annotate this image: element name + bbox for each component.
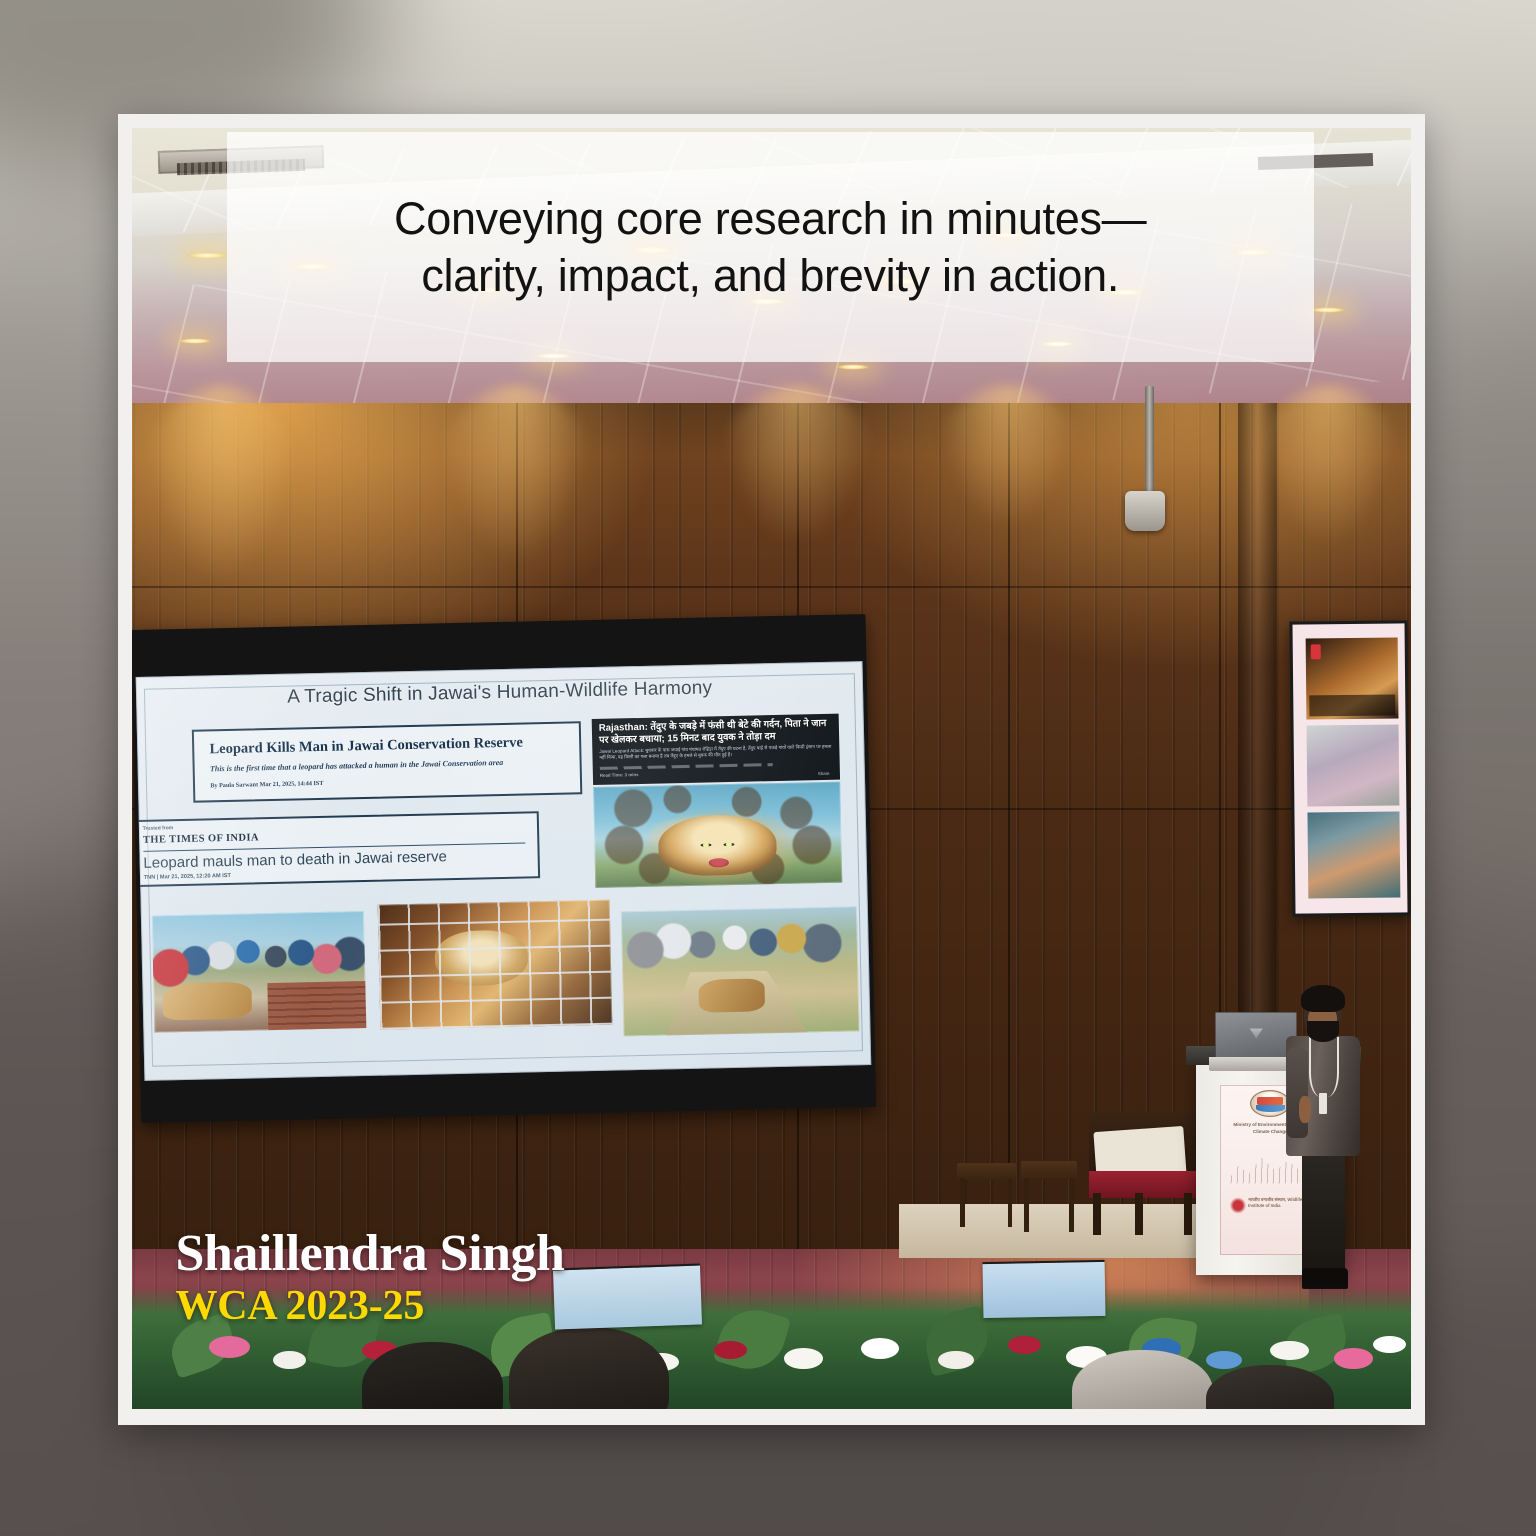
news-hindi-read-time: Read Time: 3 mins xyxy=(600,772,639,778)
caption-block: Shaillendra Singh WCA 2023-25 xyxy=(175,1228,564,1329)
news-clipping-2: Trusted from THE TIMES OF INDIA Leopard … xyxy=(136,812,540,888)
program-label: WCA 2023-25 xyxy=(175,1284,564,1329)
poster-marker-icon xyxy=(1310,645,1320,660)
conference-photo: A Tragic Shift in Jawai's Human-Wildlife… xyxy=(132,128,1411,1409)
news-2-kicker: Trusted from xyxy=(142,825,173,832)
news-clipping-hindi: Rajasthan: तेंदुए के जबड़े में फंसी थी ब… xyxy=(591,713,839,785)
news-hindi-headline: Rajasthan: तेंदुए के जबड़े में फंसी थी ब… xyxy=(599,718,832,746)
share-label: Share xyxy=(818,771,830,776)
laptop-logo-icon xyxy=(1250,1028,1263,1038)
wii-logo-icon xyxy=(1230,1197,1246,1214)
news-hindi-body: Jawai Leopard Attack: बुधवार के पास जवाई… xyxy=(599,744,831,761)
news-1-headline: Leopard Kills Man in Jawai Conservation … xyxy=(209,734,567,759)
wall-poster-display xyxy=(1289,621,1410,917)
presenter xyxy=(1281,988,1365,1289)
photo-card-frame: A Tragic Shift in Jawai's Human-Wildlife… xyxy=(118,114,1425,1425)
news-1-byline: By Paula Sarwant Mar 21, 2025, 14:44 IST xyxy=(210,775,568,790)
news-2-masthead: THE TIMES OF INDIA xyxy=(143,832,259,846)
slide-hero-photo xyxy=(593,782,842,888)
side-table-2 xyxy=(1021,1161,1077,1233)
side-table-1 xyxy=(957,1163,1016,1227)
presenter-name: Shaillendra Singh xyxy=(175,1228,564,1280)
stage-chair xyxy=(1089,1112,1199,1235)
headline-line-1: Conveying core research in minutes— xyxy=(394,190,1146,248)
slide-photo-1 xyxy=(152,911,366,1032)
news-2-byline: TNN | Mar 21, 2025, 12:20 AM IST xyxy=(144,873,231,881)
projection-screen: A Tragic Shift in Jawai's Human-Wildlife… xyxy=(132,614,876,1123)
headline-line-2: clarity, impact, and brevity in action. xyxy=(421,247,1119,305)
screenshot-root: A Tragic Shift in Jawai's Human-Wildlife… xyxy=(0,0,1536,1536)
table-name-card xyxy=(982,1260,1104,1318)
news-1-standfirst: This is the first time that a leopard ha… xyxy=(210,757,568,774)
name-badge xyxy=(1319,1093,1327,1114)
news-clipping-1: Leopard Kills Man in Jawai Conservation … xyxy=(192,722,583,803)
table-name-card xyxy=(553,1264,702,1330)
slide-photo-2 xyxy=(377,900,612,1030)
slide-photo-strip xyxy=(152,892,860,1053)
slide-photo-3 xyxy=(621,906,860,1036)
presentation-slide: A Tragic Shift in Jawai's Human-Wildlife… xyxy=(136,661,871,1081)
ceiling-speaker-icon xyxy=(1125,491,1166,531)
headline-overlay: Conveying core research in minutes— clar… xyxy=(227,132,1314,361)
lanyard xyxy=(1309,1037,1338,1097)
